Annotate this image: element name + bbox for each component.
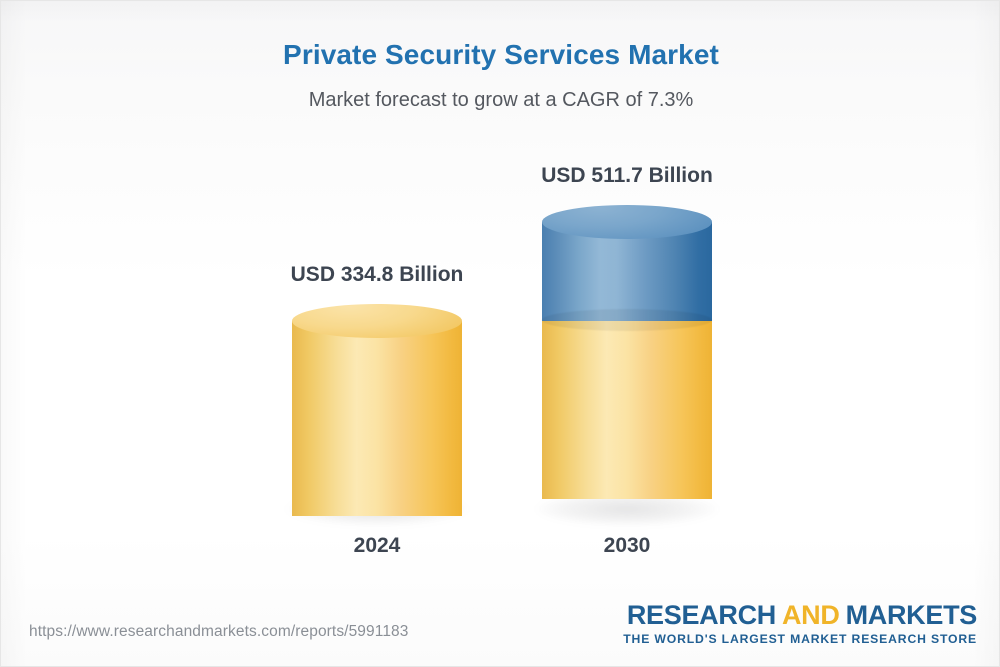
bar-2030-category-label: 2030 — [542, 534, 712, 558]
logo-tagline: THE WORLD'S LARGEST MARKET RESEARCH STOR… — [623, 632, 977, 646]
bar-2024-top-cap — [292, 304, 462, 338]
bar-2024-bottom — [292, 499, 462, 531]
bar-2024-value-label: USD 334.8 Billion — [277, 263, 477, 287]
bar-2024-body — [292, 321, 462, 516]
bar-2024-category-label: 2024 — [292, 534, 462, 558]
research-and-markets-logo[interactable]: RESEARCHANDMARKETS THE WORLD'S LARGEST M… — [623, 601, 977, 646]
bar-2030-top-cap — [542, 205, 712, 239]
logo-wordmark: RESEARCHANDMARKETS — [623, 601, 977, 629]
chart-card: Private Security Services Market Market … — [0, 0, 1000, 667]
source-url[interactable]: https://www.researchandmarkets.com/repor… — [29, 623, 408, 641]
bar-2030-bottom — [542, 499, 712, 531]
logo-word-markets: MARKETS — [846, 600, 977, 630]
logo-word-and: AND — [782, 600, 840, 630]
logo-word-research: RESEARCH — [627, 600, 776, 630]
bar-2024[interactable] — [292, 304, 462, 516]
segment-seam — [542, 309, 712, 331]
bar-2030-base-segment — [542, 321, 712, 499]
bar-2030-value-label: USD 511.7 Billion — [527, 164, 727, 188]
bar-2030[interactable] — [542, 205, 712, 516]
chart-plot-area: USD 334.8 Billion 2024 USD 511.7 Billion… — [1, 1, 1000, 667]
